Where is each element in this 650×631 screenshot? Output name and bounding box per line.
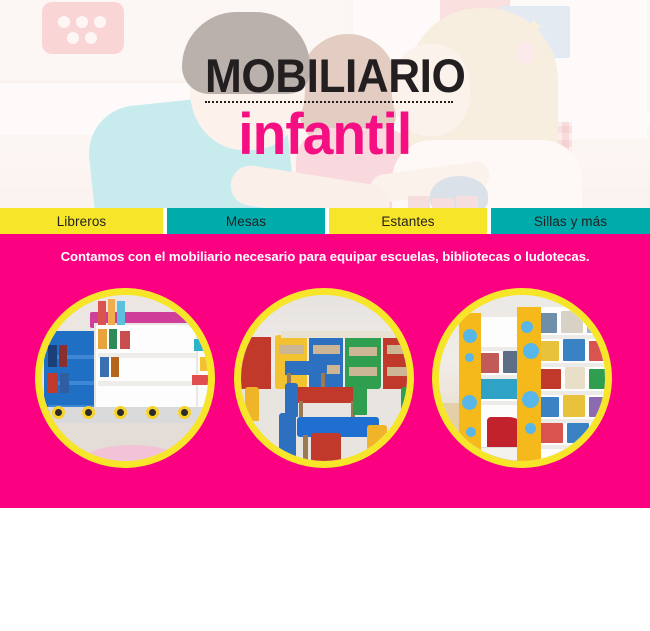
hero-title-primary: MOBILIARIO [205,52,440,99]
tagline-text: Contamos con el mobiliario necesario par… [0,249,650,264]
hero-banner: ✦ [0,0,650,208]
tab-libreros[interactable]: Libreros [0,208,163,234]
gallery-photo-1[interactable] [35,288,215,468]
footer: G ICI Niños ♪ @icikids f ICI Niños ✈ @ic… [0,508,650,631]
gallery-photo-3[interactable] [432,288,612,468]
tab-mesas-label: Mesas [226,214,266,229]
gallery-photo-2[interactable] [234,288,414,468]
tab-libreros-label: Libreros [57,214,107,229]
tab-estantes-label: Estantes [381,214,434,229]
tab-estantes[interactable]: Estantes [329,208,487,234]
flyer-root: ✦ [0,0,650,631]
tab-sillas-y-mas[interactable]: Sillas y más [491,208,650,234]
category-tab-bar: Libreros Mesas Estantes Sillas y más [0,208,650,234]
hero-title-group: MOBILIARIO infantil [0,0,650,208]
hero-title-secondary: infantil [206,106,444,164]
tab-mesas[interactable]: Mesas [167,208,325,234]
tab-sillas-label: Sillas y más [534,214,607,229]
